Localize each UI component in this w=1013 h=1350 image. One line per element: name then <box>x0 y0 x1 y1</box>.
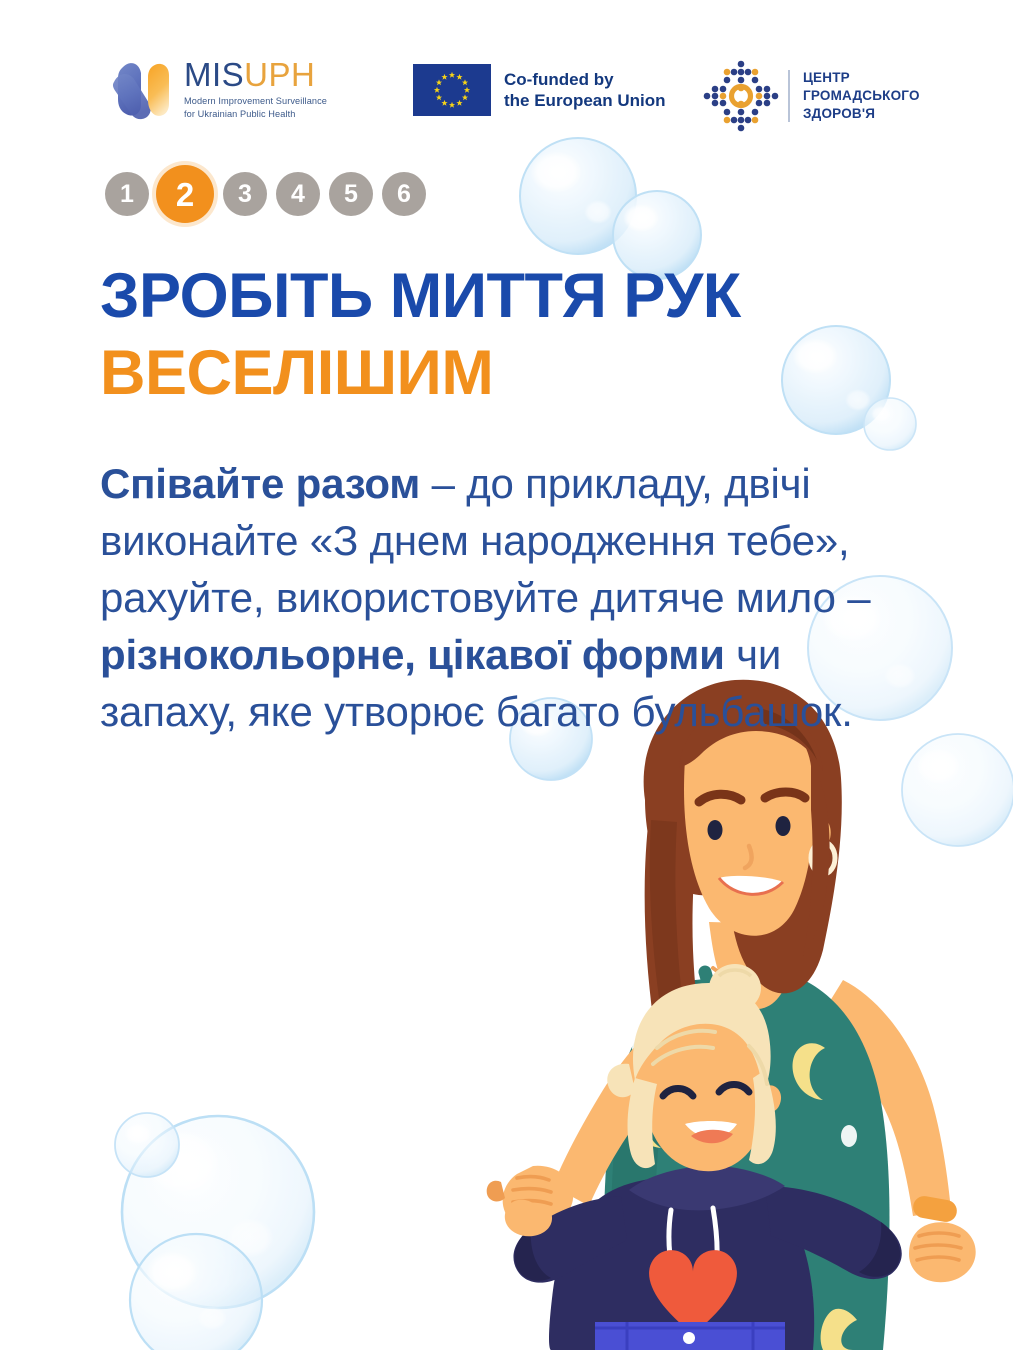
bubble-cluster-right-lower <box>902 734 1013 846</box>
child-figure <box>505 964 902 1350</box>
mother-and-child-illustration <box>413 650 1013 1350</box>
cph-text-line2: ГРОМАДСЬКОГО <box>803 87 920 105</box>
cph-text-line1: ЦЕНТР <box>803 69 920 87</box>
bubble-cluster-right-upper <box>782 326 916 450</box>
child-hair <box>607 964 776 1168</box>
cph-dot-diamond-icon <box>702 58 780 134</box>
misuph-m-mark-icon <box>105 56 173 122</box>
misuph-word-secondary: UPH <box>244 56 315 93</box>
cph-text-line3: ЗДОРОВ'Я <box>803 105 920 123</box>
mother-figure <box>487 680 976 1350</box>
step-badge-5[interactable]: 5 <box>329 172 373 216</box>
step-badge-6[interactable]: 6 <box>382 172 426 216</box>
step-indicator: 1 2 3 4 5 6 <box>105 165 435 223</box>
child-left-hand <box>505 1200 552 1237</box>
step-badge-3[interactable]: 3 <box>223 172 267 216</box>
eu-text-line2: the European Union <box>504 90 666 111</box>
body-text: Співайте разом – до прикладу, двічі вико… <box>100 455 890 741</box>
step-badge-4[interactable]: 4 <box>276 172 320 216</box>
misuph-logo: MISUPH Modern Improvement Surveillance f… <box>105 56 327 122</box>
heart-icon <box>649 1250 737 1334</box>
headline-line1: ЗРОБІТЬ МИТТЯ РУК <box>100 258 741 335</box>
step-badge-1[interactable]: 1 <box>105 172 149 216</box>
logo-bar: MISUPH Modern Improvement Surveillance f… <box>0 52 1013 144</box>
misuph-wordmark: MISUPH Modern Improvement Surveillance f… <box>184 58 327 119</box>
mother-right-hand <box>909 1222 976 1282</box>
misuph-tagline-line2: for Ukrainian Public Health <box>184 108 327 120</box>
cph-divider <box>788 70 790 122</box>
misuph-word-primary: MIS <box>184 56 244 93</box>
bubble-cluster-bottom-left <box>115 1113 314 1350</box>
european-union-logo: Co-funded by the European Union <box>413 64 666 116</box>
eu-text-line1: Co-funded by <box>504 69 666 90</box>
step-badge-2[interactable]: 2 <box>156 165 214 223</box>
body-emphasis-1: Співайте разом <box>100 460 420 507</box>
dress-pattern <box>623 1036 857 1350</box>
mother-left-hand <box>487 1166 574 1231</box>
headline-line2: ВЕСЕЛІШИМ <box>100 335 741 412</box>
eu-flag-icon <box>413 64 491 116</box>
misuph-tagline-line1: Modern Improvement Surveillance <box>184 95 327 107</box>
public-health-center-logo: ЦЕНТР ГРОМАДСЬКОГО ЗДОРОВ'Я <box>702 58 920 134</box>
page-title: ЗРОБІТЬ МИТТЯ РУК ВЕСЕЛІШИМ <box>100 258 741 412</box>
body-emphasis-2: різнокольорне, цікавої форми <box>100 631 725 678</box>
